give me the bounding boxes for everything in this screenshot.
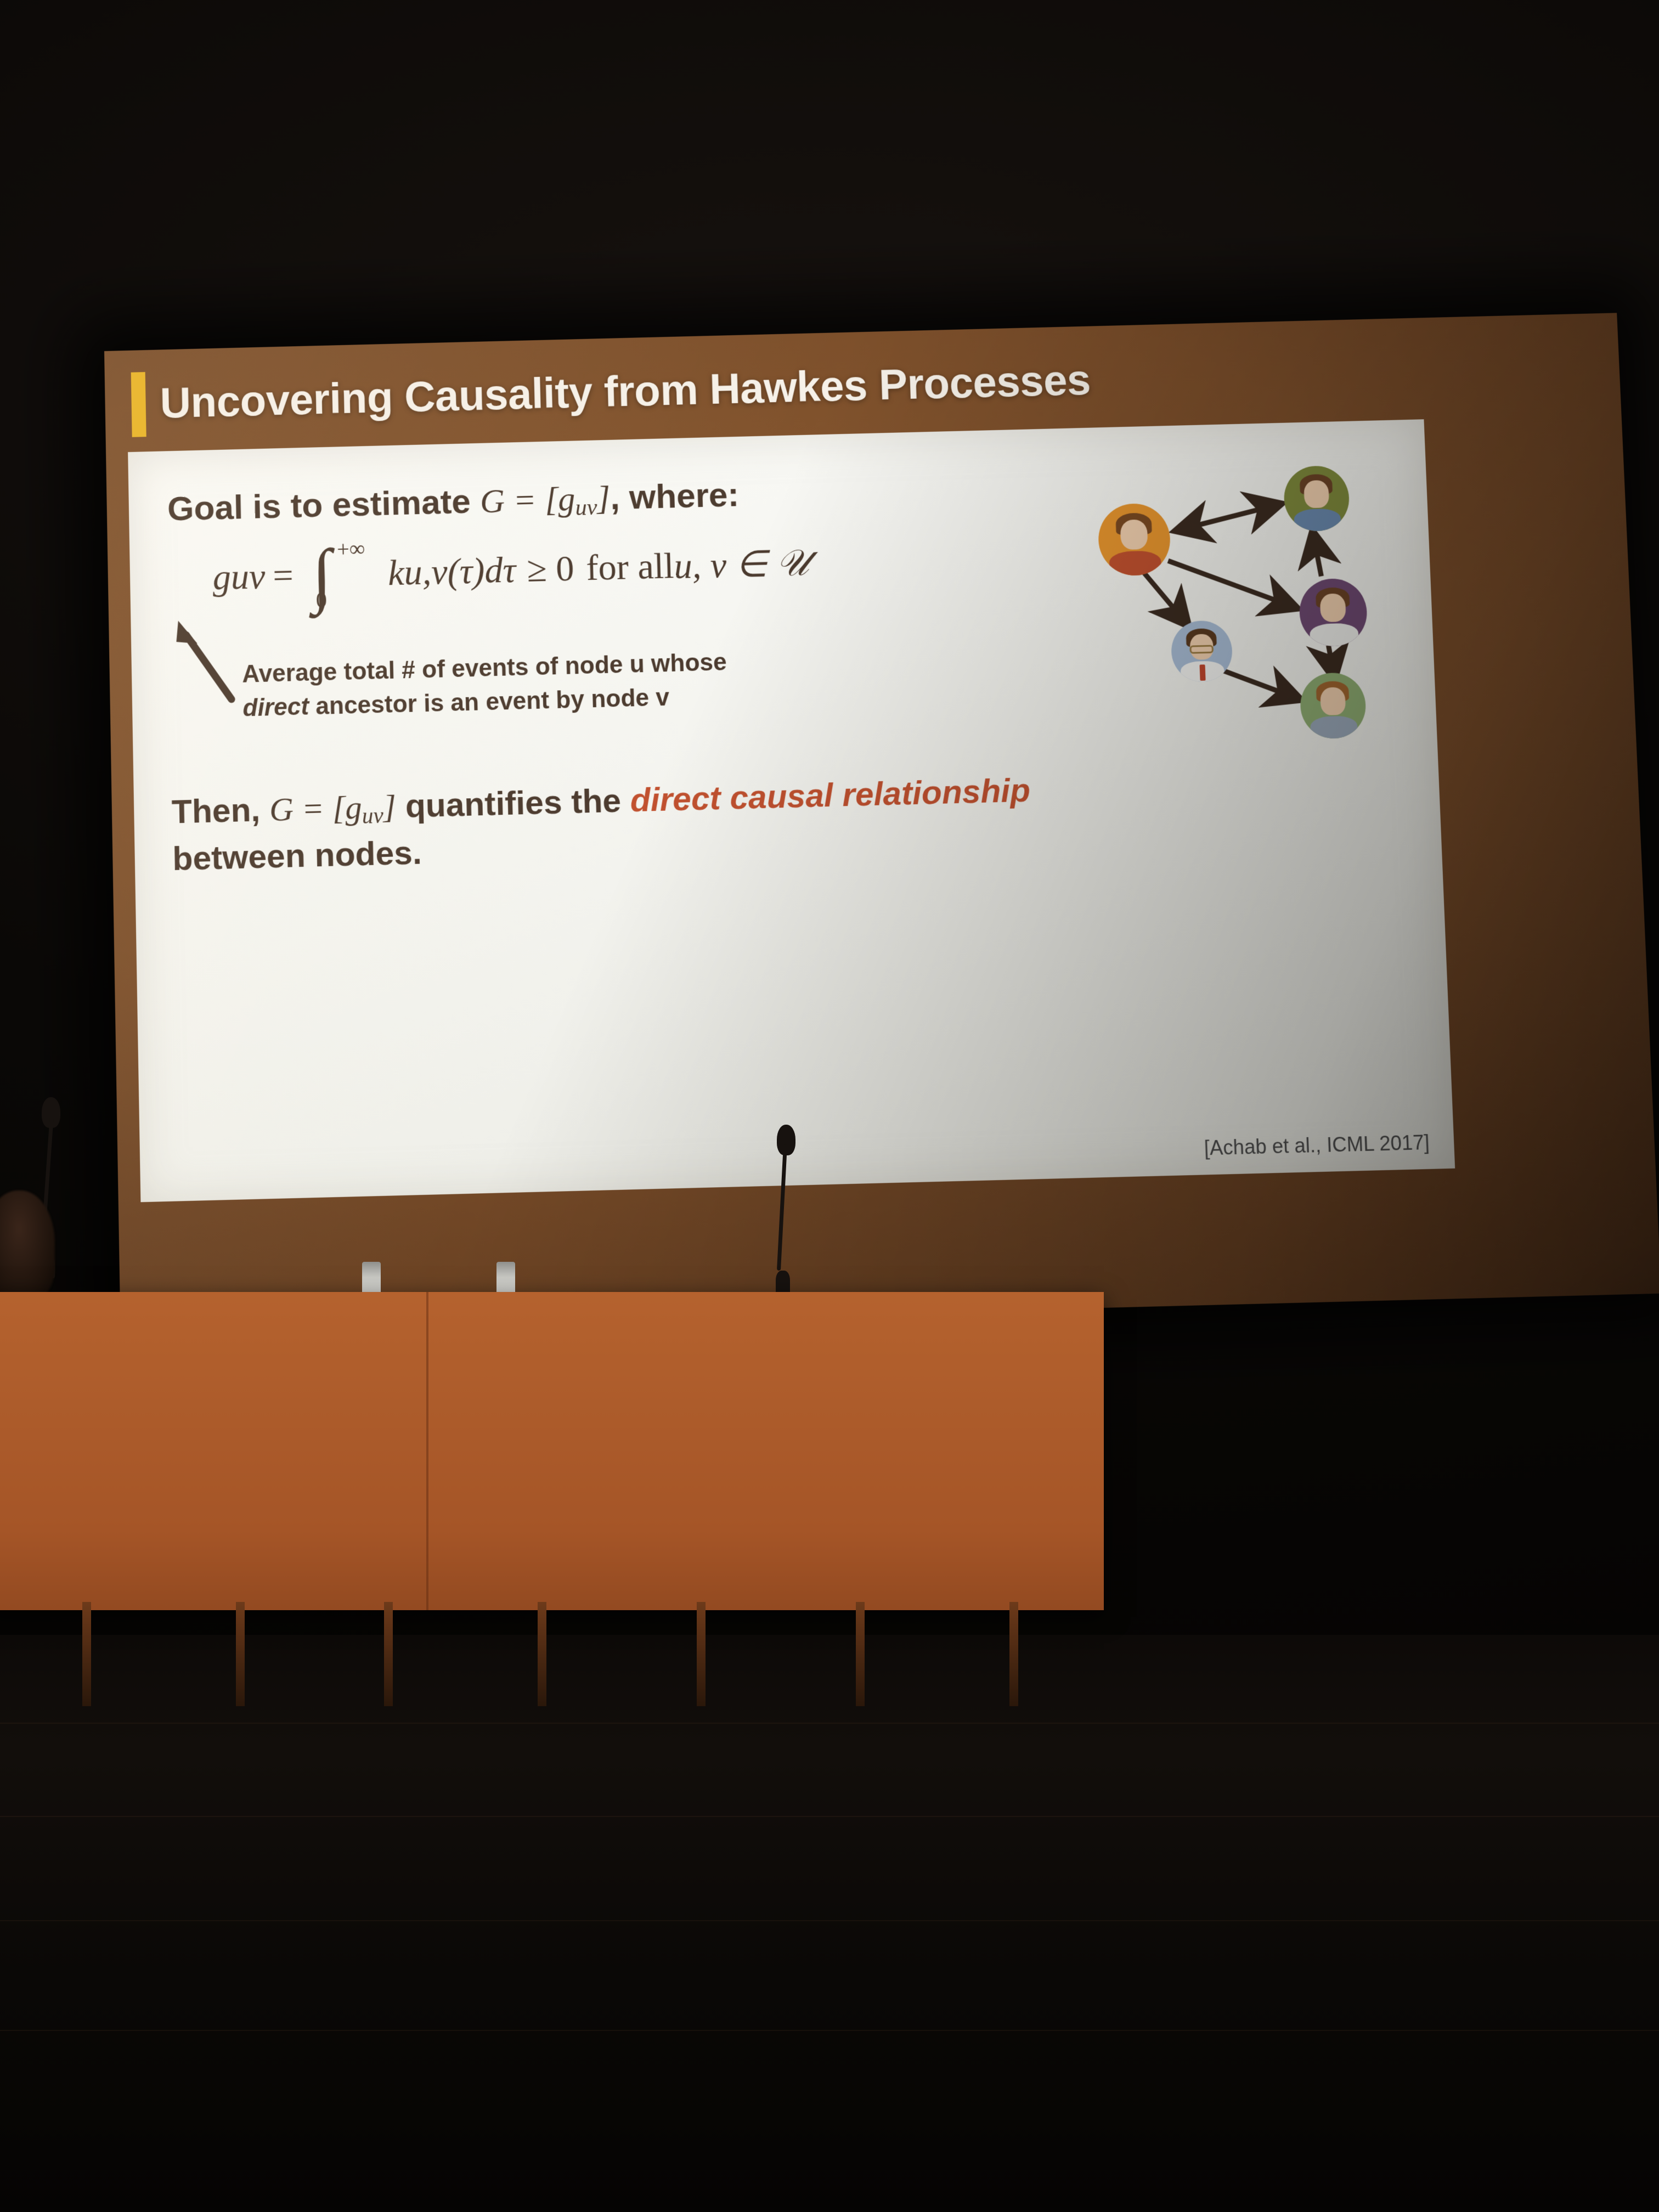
microphone-center bbox=[768, 1125, 801, 1295]
edge-orange-blue bbox=[1144, 572, 1187, 625]
goal-line: Goal is to estimate G = [guv], where: bbox=[167, 475, 740, 532]
callout-line-2-rest: ancestor is an event by node v bbox=[309, 684, 670, 720]
edge-blue-green bbox=[1218, 667, 1299, 701]
slide-content-panel: Goal is to estimate G = [guv], where: gu… bbox=[128, 419, 1455, 1202]
equation-equals: = bbox=[273, 555, 294, 597]
network-edges bbox=[1062, 436, 1426, 755]
edge-purple-olive bbox=[1313, 533, 1321, 577]
goal-math-suffix: ] bbox=[596, 479, 611, 517]
then-highlight: direct causal relationship bbox=[630, 771, 1031, 819]
podium-leg bbox=[384, 1602, 393, 1706]
goal-suffix: , where: bbox=[610, 476, 740, 517]
edge-orange-purple bbox=[1168, 557, 1295, 610]
citation-text: [Achab et al., ICML 2017] bbox=[1204, 1131, 1430, 1160]
title-accent-bar bbox=[131, 372, 146, 437]
podium-leg bbox=[856, 1602, 865, 1706]
integrand-symbol: k bbox=[387, 552, 404, 594]
equation-quantifier: for all bbox=[585, 545, 674, 590]
podium-leg bbox=[236, 1602, 245, 1706]
then-math-sub: uv bbox=[362, 803, 383, 828]
equation-lhs: g bbox=[212, 556, 232, 599]
then-part-3: between nodes. bbox=[172, 833, 422, 877]
equation-quantifier-vars: u, v ∈ 𝒰 bbox=[673, 541, 809, 588]
goal-prefix: Goal is to estimate bbox=[167, 482, 481, 528]
integrand-argument: (τ)dτ bbox=[447, 549, 516, 593]
edge-orange-olive bbox=[1177, 504, 1280, 530]
mic-post-left bbox=[362, 1262, 381, 1296]
edge-purple-green bbox=[1328, 645, 1334, 677]
then-math-suffix: ] bbox=[383, 788, 397, 825]
equation-relation: ≥ 0 bbox=[526, 548, 574, 591]
equation-lhs-sub: uv bbox=[230, 556, 266, 599]
projection-screen: Uncovering Causality from Hawkes Process… bbox=[104, 313, 1659, 1333]
callout-arrow-icon bbox=[164, 614, 249, 705]
podium-leg bbox=[1009, 1602, 1018, 1706]
main-equation: guv = ∫ +∞ 0 ku,v(τ)dτ ≥ 0 for all u, v … bbox=[212, 534, 810, 606]
podium-leg bbox=[697, 1602, 706, 1706]
mic-post-right bbox=[496, 1262, 515, 1296]
projection-screen-wrapper: Uncovering Causality from Hawkes Process… bbox=[0, 0, 1659, 2212]
conclusion-paragraph: Then, G = [guv] quantifies the direct ca… bbox=[171, 763, 1224, 882]
podium-leg bbox=[538, 1602, 546, 1706]
integral-symbol-group: ∫ +∞ 0 bbox=[312, 546, 332, 604]
then-math: G = [g bbox=[269, 789, 362, 828]
integrand-subscript: u,v bbox=[404, 551, 448, 594]
callout-italic-word: direct bbox=[242, 693, 309, 722]
goal-math-sub: uv bbox=[575, 494, 597, 521]
network-diagram bbox=[1062, 436, 1426, 755]
podium-seam bbox=[426, 1292, 428, 1610]
integral-upper-limit: +∞ bbox=[337, 535, 365, 562]
room-background: Uncovering Causality from Hawkes Process… bbox=[0, 0, 1659, 2212]
then-part-2: quantifies the bbox=[396, 781, 630, 825]
integral-lower-limit: 0 bbox=[315, 586, 327, 613]
podium-leg bbox=[82, 1602, 91, 1706]
podium bbox=[0, 1292, 1104, 1610]
then-part-1: Then, bbox=[171, 791, 269, 831]
slide-title: Uncovering Causality from Hawkes Process… bbox=[160, 355, 1091, 428]
callout-annotation: Average total # of events of node u whos… bbox=[242, 646, 729, 725]
goal-math: G = [g bbox=[479, 481, 575, 521]
